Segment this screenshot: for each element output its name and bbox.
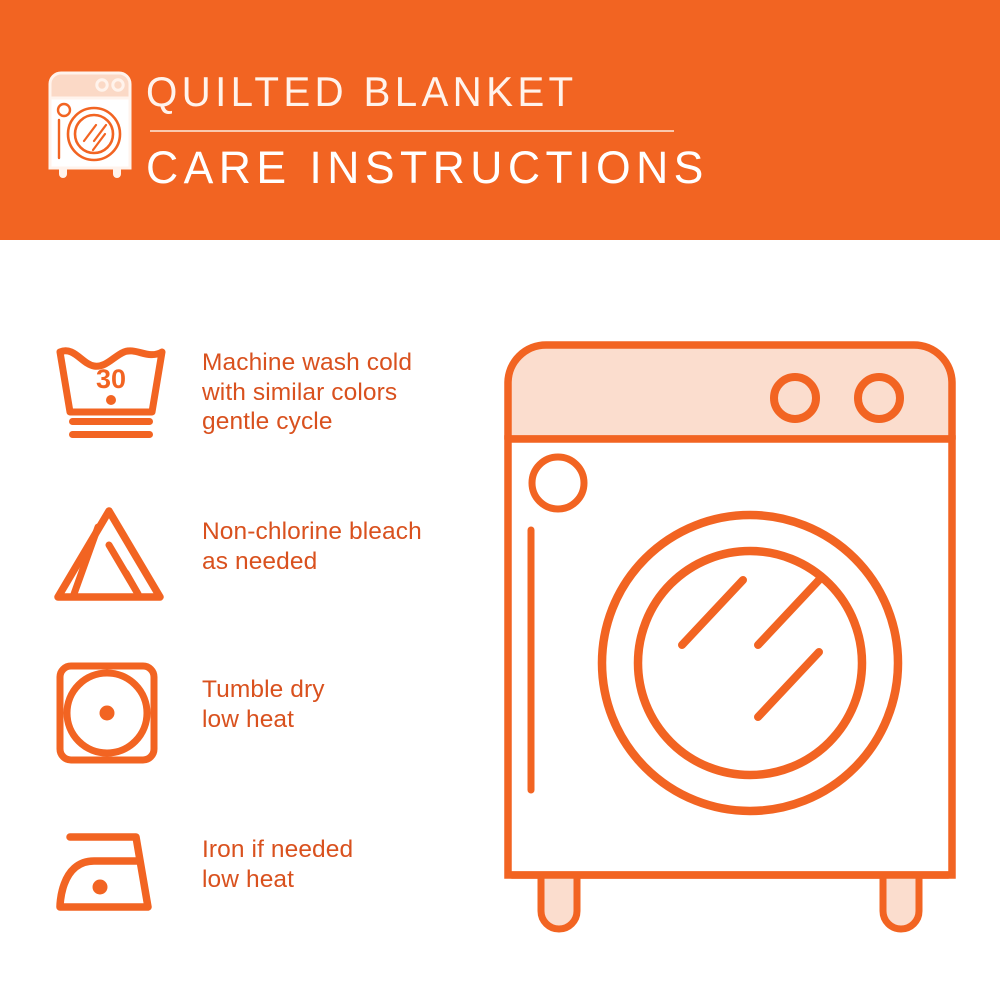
care-row-label: Machine wash cold with similar colors ge… [202,348,412,437]
tumble-dry-square-icon [52,658,170,768]
knob-left-shape [774,377,816,419]
page-title: QUILTED BLANKET [146,66,684,118]
care-row: Non-chlorine bleach as needed [52,495,472,650]
machine-wash-basin-icon: 30 [52,340,170,450]
care-row-label: Tumble dry low heat [202,675,325,734]
front-load-washing-machine-illustration [490,335,970,935]
iron-low-heat-icon [52,819,170,929]
wash-temperature-label: 30 [96,364,126,394]
care-instruction-list: 30 Machine wash cold with similar colors… [52,340,472,960]
knob-right-shape [858,377,900,419]
leg-right-shape [883,875,919,929]
care-row: Tumble dry low heat [52,650,472,805]
header-title-block: QUILTED BLANKET CARE INSTRUCTIONS [146,66,706,194]
non-chlorine-bleach-triangle-icon [52,501,170,611]
page-subtitle: CARE INSTRUCTIONS [146,142,700,194]
content-area: 30 Machine wash cold with similar colors… [0,240,1000,1000]
leg-left-shape [541,875,577,929]
care-row-label: Iron if needed low heat [202,835,353,894]
page-header: QUILTED BLANKET CARE INSTRUCTIONS [0,0,1000,240]
washing-machine-logo-icon [44,68,136,180]
care-row: Iron if needed low heat [52,805,472,960]
title-divider [150,130,674,132]
care-row: 30 Machine wash cold with similar colors… [52,340,472,495]
care-row-label: Non-chlorine bleach as needed [202,517,422,576]
